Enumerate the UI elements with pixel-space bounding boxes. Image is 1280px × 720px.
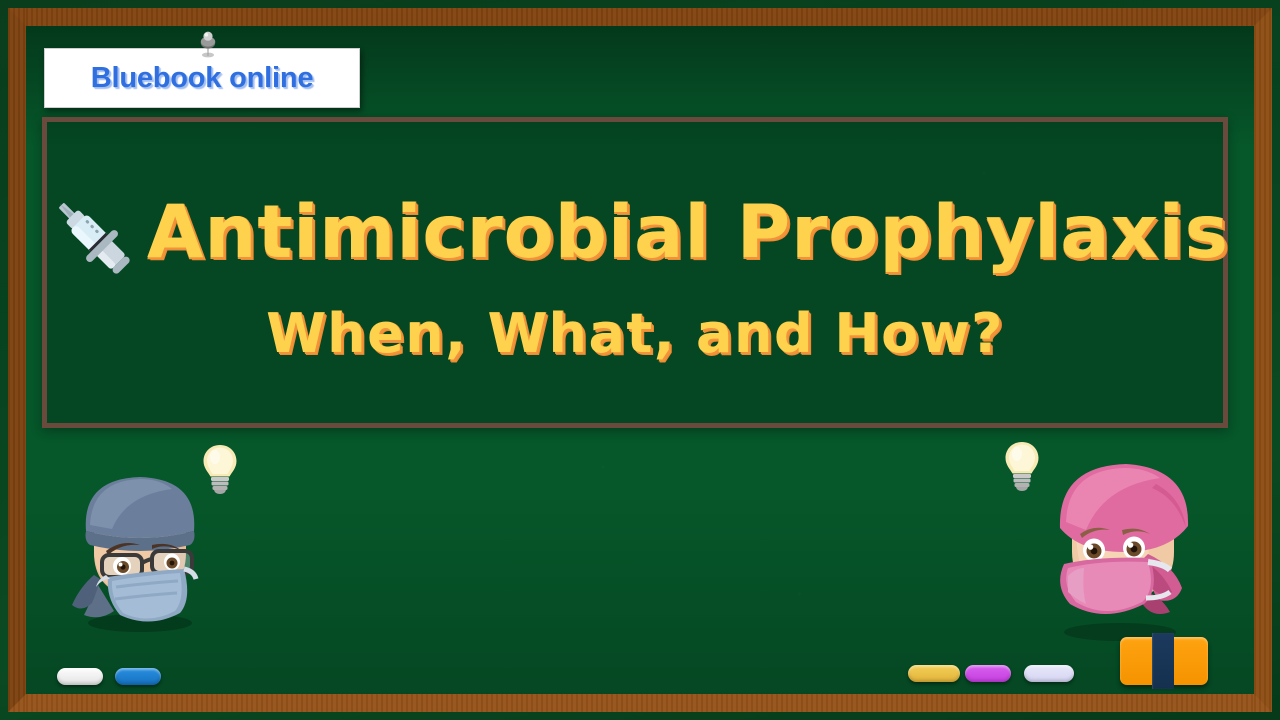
page-title: Antimicrobial Prophylaxis — [147, 196, 1229, 269]
syringe-icon — [45, 189, 141, 285]
board-eraser-band — [1152, 633, 1174, 689]
male-surgeon-avatar — [60, 465, 220, 635]
chalk-stick-yellow[interactable] — [908, 665, 960, 682]
chalk-stick-violet[interactable] — [965, 665, 1011, 682]
push-pin-icon — [196, 30, 220, 60]
title-row: Antimicrobial Prophylaxis — [41, 185, 1229, 281]
chalk-stick-white[interactable] — [57, 668, 103, 685]
chalk-stick-lilac[interactable] — [1024, 665, 1074, 682]
chalk-stick-blue[interactable] — [115, 668, 161, 685]
female-surgeon-avatar — [1028, 450, 1208, 645]
slide-canvas: Bluebook online — [0, 0, 1280, 720]
pinned-label-text: Bluebook online — [91, 62, 314, 95]
page-subtitle: When, What, and How? — [266, 307, 1004, 361]
title-frame-box: Antimicrobial Prophylaxis When, What, an… — [42, 117, 1228, 428]
